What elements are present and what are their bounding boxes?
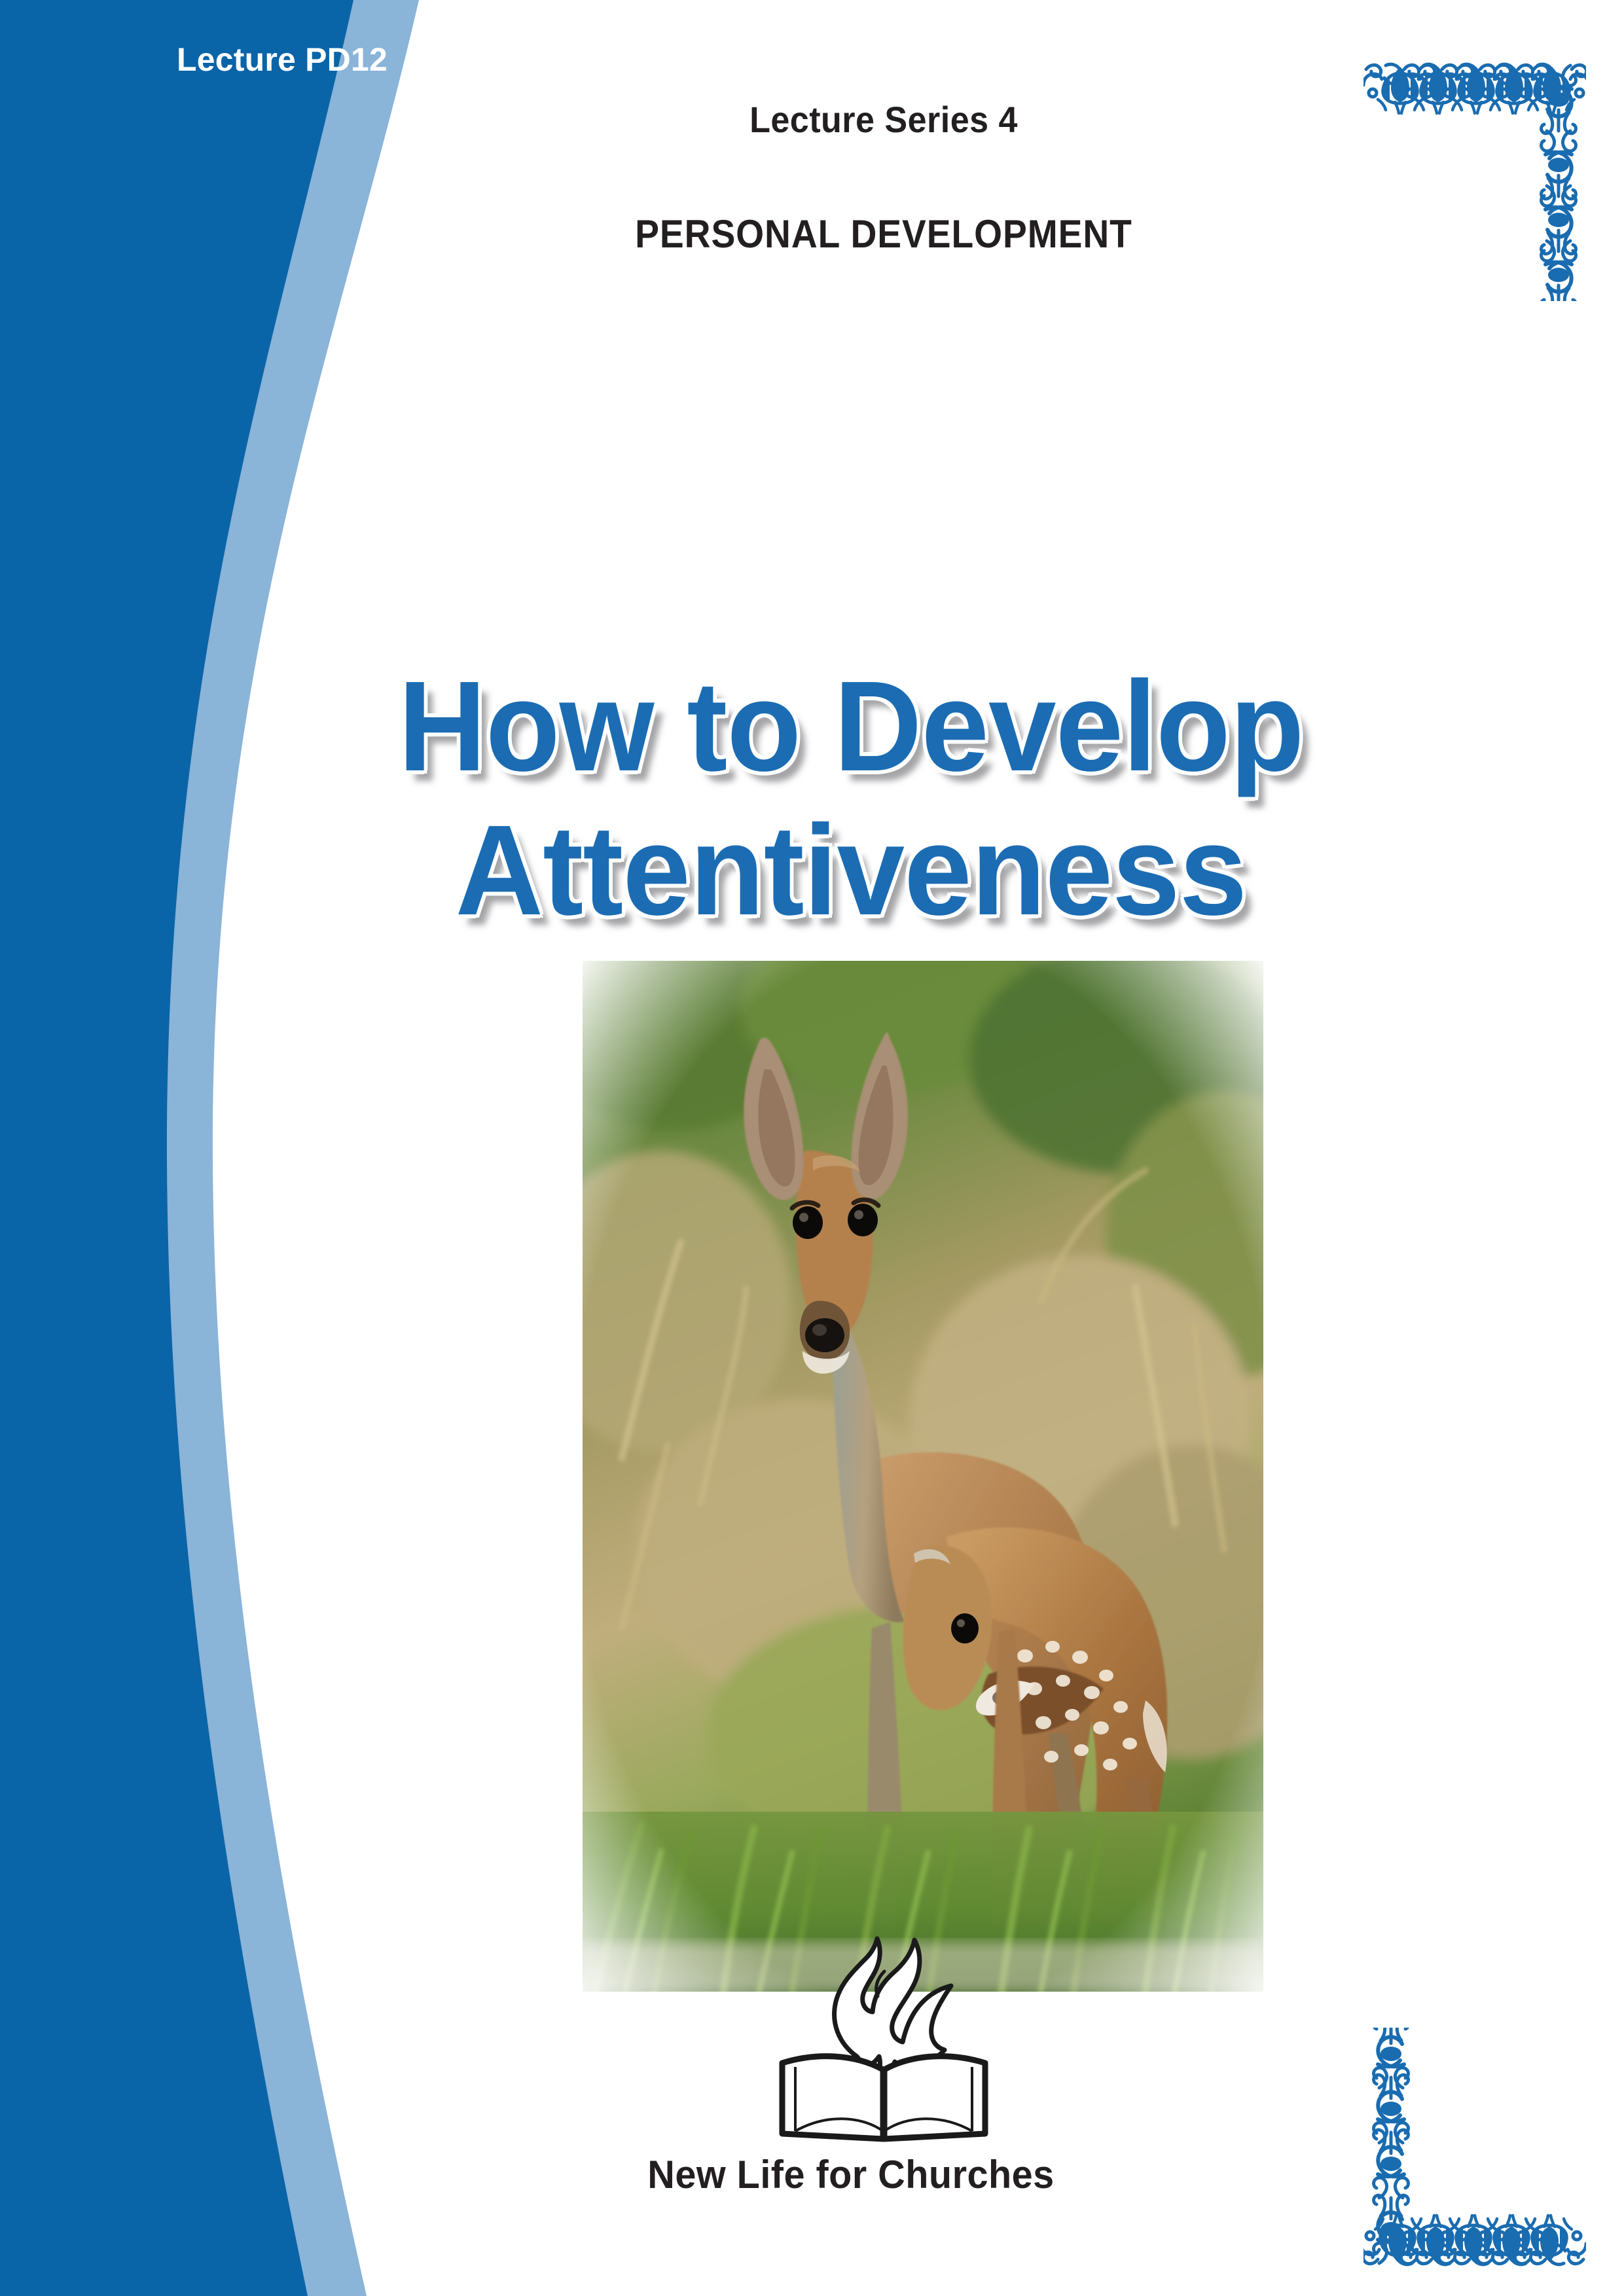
band-light-accent (0, 0, 419, 2296)
cover-photograph (583, 961, 1263, 1992)
ornament-corner-block (1374, 2195, 1409, 2263)
lecture-series-line: Lecture Series 4 (524, 98, 1242, 141)
ornament-horizontal-run (1363, 64, 1586, 113)
ornament-vertical-run (1542, 131, 1576, 301)
title-line-1: How to Develop (229, 655, 1473, 798)
open-book-with-flame-logo (776, 1918, 992, 2144)
subject-line: PERSONAL DEVELOPMENT (528, 211, 1239, 257)
ornament-vertical-run (1374, 2028, 1409, 2198)
ornament-corner-bottom-right-icon (1363, 2028, 1586, 2270)
header-block: Lecture Series 4 PERSONAL DEVELOPMENT (497, 98, 1270, 257)
band-dark-main (0, 0, 353, 2296)
page-title: How to Develop Attentiveness (196, 655, 1506, 942)
lecture-code-label: Lecture PD12 (177, 41, 504, 79)
organization-name: New Life for Churches (411, 2152, 1291, 2197)
ornament-corner-block (1542, 65, 1576, 134)
left-decorative-band (0, 0, 589, 2296)
ornament-horizontal-run (1363, 2215, 1586, 2265)
open-book-icon (782, 2056, 985, 2139)
ornament-corner-top-right-icon (1363, 59, 1586, 301)
deer-and-fawn-photo-illustration (583, 961, 1263, 1992)
title-line-2: Attentiveness (229, 798, 1473, 942)
